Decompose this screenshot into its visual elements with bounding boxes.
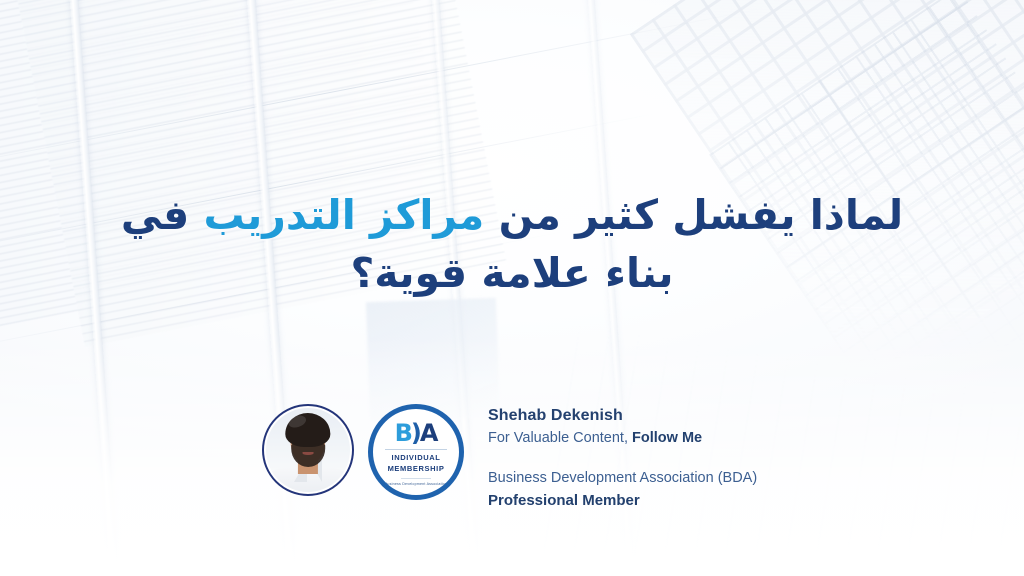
badge-divider-small [401, 478, 431, 479]
badge-inner: B)A INDIVIDUAL MEMBERSHIP Business Devel… [373, 409, 459, 495]
author-name: Shehab Dekenish [488, 406, 757, 427]
bda-logo-letter-a: A [420, 421, 438, 445]
badge-divider [385, 449, 447, 450]
author-info: Shehab Dekenish For Valuable Content, Fo… [478, 404, 757, 511]
avatar [262, 404, 354, 496]
bda-logo-icon: B)A [395, 421, 438, 445]
bda-membership-badge: B)A INDIVIDUAL MEMBERSHIP Business Devel… [368, 404, 464, 500]
avatar-hair [285, 413, 330, 447]
badge-membership-word: MEMBERSHIP [388, 464, 445, 474]
author-footer: B)A INDIVIDUAL MEMBERSHIP Business Devel… [262, 404, 757, 511]
slide-canvas: لماذا يفشل كثير من مراكز التدريب في بناء… [0, 0, 1024, 576]
badge-membership-type: INDIVIDUAL [392, 453, 441, 463]
author-tagline: For Valuable Content, Follow Me [488, 428, 757, 449]
badge-fine-print: Business Development Association [385, 482, 447, 487]
author-role: Professional Member [488, 490, 757, 511]
tagline-plain: For Valuable Content, [488, 430, 632, 446]
headline-accent-phrase: مراكز التدريب [203, 191, 484, 239]
bda-logo-letter-b: B [395, 421, 412, 445]
headline-line2: بناء علامة قوية؟ [350, 249, 673, 297]
headline-line1-part2: في [121, 191, 204, 239]
avatar-photo [266, 408, 350, 492]
headline-line1-part1: لماذا يفشل كثير من [484, 191, 903, 239]
author-organization: Business Development Association (BDA) [488, 468, 757, 489]
tagline-follow-me[interactable]: Follow Me [632, 430, 702, 446]
headline: لماذا يفشل كثير من مراكز التدريب في بناء… [0, 186, 1024, 302]
